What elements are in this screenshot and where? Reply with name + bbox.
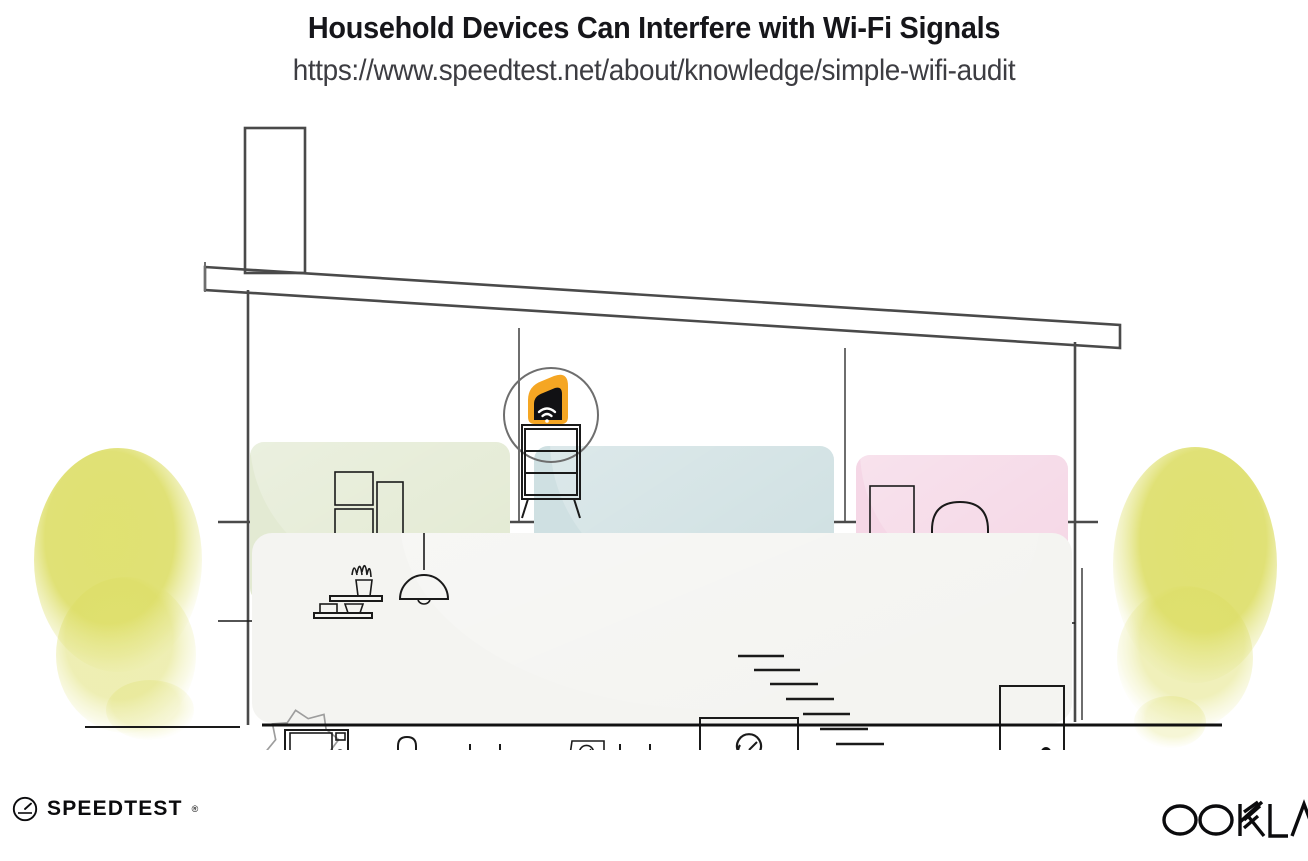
wifi-router xyxy=(528,375,568,424)
speedtest-logo[interactable]: SPEEDTEST ® xyxy=(12,796,198,822)
header: Household Devices Can Interfere with Wi-… xyxy=(0,0,1308,88)
page-title: Household Devices Can Interfere with Wi-… xyxy=(46,10,1262,46)
dining-chair-right xyxy=(617,744,653,750)
source-url: https://www.speedtest.net/about/knowledg… xyxy=(46,54,1262,88)
ookla-logo[interactable]: ® xyxy=(1158,798,1308,842)
room-lower-level: SPEEDTEST xyxy=(252,330,1072,750)
infographic-canvas: Household Devices Can Interfere with Wi-… xyxy=(0,0,1308,861)
speedtest-gauge-icon xyxy=(580,745,594,750)
faucet-icon xyxy=(398,737,416,750)
ookla-wordmark xyxy=(1164,806,1232,834)
footer: SPEEDTEST ® xyxy=(0,780,1308,861)
speedtest-gauge-icon xyxy=(12,796,38,822)
roof-and-chimney xyxy=(205,128,1120,348)
foliage-left xyxy=(34,448,202,740)
house-illustration: SPEEDTEST xyxy=(0,110,1308,750)
ookla-k-letter xyxy=(1240,802,1264,836)
speedtest-trademark: ® xyxy=(192,804,199,814)
ookla-la-letters xyxy=(1270,804,1308,836)
speedtest-wordmark: SPEEDTEST xyxy=(47,797,183,821)
speedtest-gauge-icon xyxy=(737,734,761,750)
dining-chair-left xyxy=(467,744,503,750)
foliage-right xyxy=(1113,447,1277,748)
laptop: SPEEDTEST xyxy=(564,741,608,750)
microwave xyxy=(285,730,348,750)
kitchen-cabinets xyxy=(280,737,454,750)
